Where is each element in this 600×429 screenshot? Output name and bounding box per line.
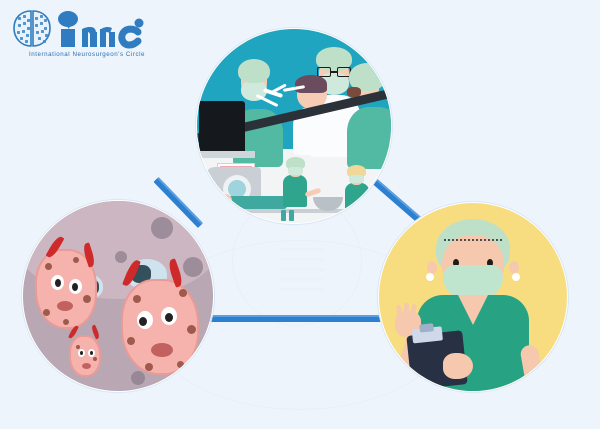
holding-hand (443, 353, 473, 379)
floor-marker (289, 210, 294, 221)
earring (426, 273, 434, 281)
hairline (444, 239, 502, 253)
tumor-speck (151, 217, 173, 239)
earring (512, 273, 520, 281)
brain-icon (12, 8, 144, 50)
background-watermark-bar (280, 248, 324, 251)
tumor-speck (115, 251, 127, 263)
operating-theatre-circle[interactable] (196, 28, 392, 224)
tumor-cell-large-right (121, 279, 199, 375)
ear (509, 261, 519, 274)
tumor-speck (183, 257, 203, 277)
background-watermark-bar (280, 278, 324, 281)
patient-bed (225, 196, 287, 209)
logo[interactable]: International Neurosurgeon's Circle (12, 8, 162, 70)
surgical-monitor (199, 101, 245, 153)
infographic-canvas: International Neurosurgeon's Circle (0, 0, 600, 429)
glasses-icon (317, 67, 351, 77)
monitor-base (197, 151, 255, 158)
surgical-mask (443, 265, 503, 299)
background-watermark-bar (280, 258, 324, 261)
medical-staff-circle[interactable] (378, 202, 568, 392)
scanner-patient-head (219, 194, 232, 207)
tumor-speck (131, 371, 145, 385)
tumor-cells-circle[interactable] (22, 200, 214, 392)
tumor-cell-small (69, 335, 101, 377)
finger (404, 303, 409, 318)
floor-marker (281, 210, 286, 221)
logo-tagline: International Neurosurgeon's Circle (14, 51, 160, 58)
background-watermark-bar (280, 288, 324, 291)
background-watermark-bar (280, 268, 324, 271)
